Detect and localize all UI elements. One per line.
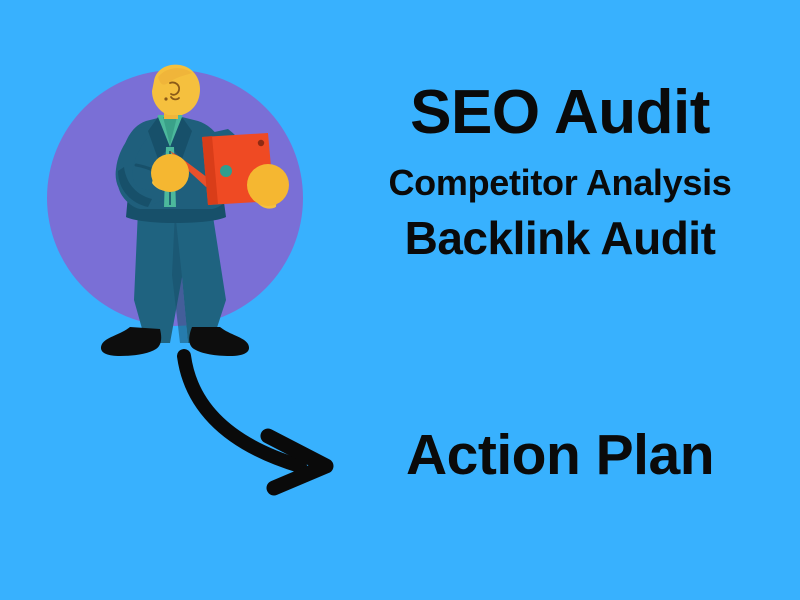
subtitle-backlink-audit: Backlink Audit	[350, 213, 770, 264]
pants	[134, 210, 226, 343]
action-plan-label: Action Plan	[350, 424, 770, 487]
poster-canvas: SEO Audit Competitor Analysis Backlink A…	[0, 0, 800, 600]
page-title: SEO Audit	[350, 80, 770, 145]
tablet-dot	[220, 165, 232, 177]
subtitle-competitor-analysis: Competitor Analysis	[350, 163, 770, 203]
tablet-camera-dot	[258, 140, 264, 146]
heading-block: SEO Audit Competitor Analysis Backlink A…	[350, 80, 770, 263]
magnifier-lens-chest	[151, 154, 189, 192]
action-plan-block: Action Plan	[350, 424, 770, 487]
illustration	[30, 55, 330, 365]
magnifier-lens-tablet	[247, 164, 289, 206]
